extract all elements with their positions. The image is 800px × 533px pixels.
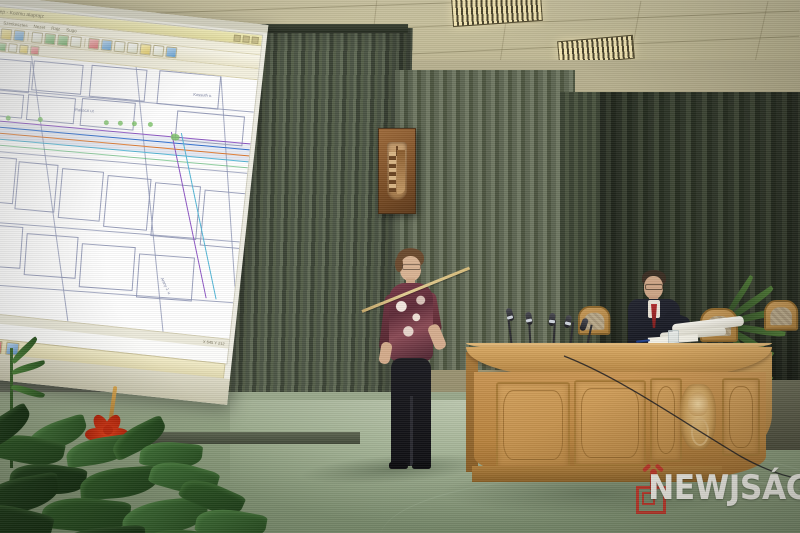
plant-leaf (79, 465, 159, 500)
parcel-outline (0, 57, 32, 93)
select-icon[interactable] (152, 45, 164, 57)
info-icon[interactable] (165, 46, 177, 58)
line-icon[interactable] (126, 42, 138, 54)
menu-item-draw[interactable]: Rajz (51, 25, 61, 31)
coat-of-arms-plaque (378, 128, 416, 214)
measure-icon[interactable] (88, 38, 100, 50)
right-shoe (412, 462, 431, 469)
parcel-outline (24, 233, 79, 279)
watermark-text: NEWJSÁG (648, 471, 800, 505)
left-shoe (389, 462, 408, 469)
flower-center (103, 425, 113, 435)
shield-icon (387, 142, 407, 200)
status-coordinates: X 645 Y 212 (203, 339, 225, 346)
text-icon[interactable] (114, 41, 126, 53)
parcel-outline (0, 223, 23, 269)
projected-application-window[interactable]: Terkep - Kozmu alaprajz Fajl Szerkesztes… (0, 5, 263, 365)
map-label-street: Rakoczi ut (75, 107, 94, 113)
parcel-outline (136, 253, 195, 301)
toolbar-separator (27, 32, 29, 41)
tree-symbol (5, 115, 11, 121)
glasses-icon (402, 264, 421, 270)
glasses-icon (645, 284, 663, 290)
cross-icon (396, 146, 398, 156)
microphone-cable (560, 352, 800, 482)
microphone-band (549, 320, 555, 324)
ceiling-light-panel (451, 0, 543, 27)
parcel-outline (80, 98, 136, 131)
tree-symbol (148, 122, 154, 128)
watermark: NEWJSÁG (636, 464, 792, 512)
tree-symbol (132, 121, 138, 127)
grid-icon[interactable] (0, 42, 7, 52)
dim-icon[interactable] (30, 45, 40, 55)
microphone-head (579, 317, 589, 331)
chair-upholstery (770, 307, 792, 325)
parcel-outline (103, 175, 152, 231)
screen-surface: Terkep - Kozmu alaprajz Fajl Szerkesztes… (0, 0, 268, 405)
menu-item-view[interactable]: Nezet (33, 23, 45, 29)
zoom-out-icon[interactable] (57, 34, 69, 46)
save-icon[interactable] (13, 30, 25, 42)
print-icon[interactable] (31, 32, 43, 44)
cad-map-canvas[interactable]: Rakoczi ut Fo ter Arany J. u. Kossuth u. (0, 50, 257, 338)
zoom-in-icon[interactable] (44, 33, 56, 45)
parcel-outline (175, 110, 245, 146)
toolbar-separator (84, 38, 86, 47)
desk-panel (496, 382, 570, 468)
foreground-plants (0, 352, 290, 533)
layer-icon[interactable] (101, 39, 113, 51)
parcel-outline (26, 94, 76, 124)
pan-icon[interactable] (70, 36, 82, 48)
window-controls[interactable] (233, 34, 259, 44)
chair-back (764, 300, 798, 331)
bamboo-leaf (11, 382, 45, 400)
open-icon[interactable] (0, 28, 12, 40)
left-forearm (378, 341, 393, 365)
parcel-outline (31, 60, 84, 94)
trouser-gap (410, 396, 413, 466)
parcel-outline (79, 243, 136, 291)
menu-item-edit[interactable]: Szerkesztes (3, 20, 28, 28)
menu-item-help[interactable]: Sugo (66, 27, 77, 33)
polygon-icon[interactable] (139, 43, 151, 55)
ortho-icon[interactable] (19, 44, 29, 54)
patterned-top (389, 283, 433, 361)
parcel-outline (0, 91, 24, 119)
parcel-outline (58, 168, 104, 222)
snap-icon[interactable] (8, 43, 18, 53)
photo-scene: Terkep - Kozmu alaprajz Fajl Szerkesztes… (0, 0, 800, 533)
